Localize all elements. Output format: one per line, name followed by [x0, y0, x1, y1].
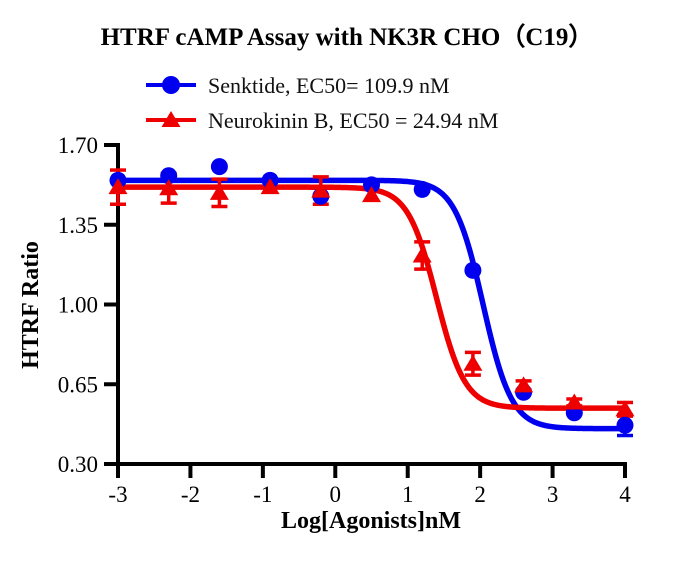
y-tick-label: 0.30 [58, 452, 98, 477]
fit-curve [118, 180, 625, 428]
x-tick-label: -2 [181, 482, 200, 507]
data-point-triangle [413, 247, 432, 263]
x-axis-label: Log[Agonists]nM [281, 508, 461, 534]
data-point-triangle [463, 355, 482, 371]
y-tick-label: 1.00 [58, 293, 98, 318]
y-tick-label: 0.65 [58, 372, 98, 397]
x-tick-group: -3-2-101234 [108, 464, 631, 507]
chart-svg: HTRF cAMP Assay with NK3R CHO（C19） Senkt… [0, 0, 695, 561]
data-point-circle [414, 181, 431, 198]
x-tick-label: -1 [253, 482, 272, 507]
x-tick-label: 0 [330, 482, 342, 507]
curve-layer [118, 180, 625, 428]
datapoint-layer [109, 158, 635, 434]
chart-legend: Senktide, EC50= 109.9 nM Neurokinin B, E… [146, 73, 498, 133]
data-point-circle [464, 262, 481, 279]
figure-container: HTRF cAMP Assay with NK3R CHO（C19） Senkt… [0, 0, 695, 561]
legend-marker-circle-icon [162, 76, 180, 94]
fit-curve [118, 187, 625, 408]
chart-title: HTRF cAMP Assay with NK3R CHO（C19） [101, 22, 594, 51]
data-point-triangle [565, 393, 584, 409]
y-tick-label: 1.35 [58, 213, 98, 238]
errorbar-layer [110, 170, 633, 435]
data-point-triangle [514, 376, 533, 392]
x-tick-label: 3 [547, 482, 559, 507]
legend-label-neurokinin-b: Neurokinin B, EC50 = 24.94 nM [208, 108, 498, 133]
legend-label-senktide: Senktide, EC50= 109.9 nM [208, 73, 450, 98]
legend-item-senktide: Senktide, EC50= 109.9 nM [146, 73, 450, 98]
y-tick-label: 1.70 [58, 133, 98, 158]
x-tick-label: 1 [402, 482, 414, 507]
legend-item-neurokinin-b: Neurokinin B, EC50 = 24.94 nM [146, 108, 498, 133]
y-tick-group: 1.701.351.000.650.30 [58, 133, 118, 477]
x-tick-label: 2 [474, 482, 486, 507]
data-point-circle [211, 158, 228, 175]
data-point-circle [617, 417, 634, 434]
x-tick-label: -3 [108, 482, 127, 507]
y-axis-label: HTRF Ratio [18, 241, 44, 369]
x-tick-label: 4 [619, 482, 631, 507]
